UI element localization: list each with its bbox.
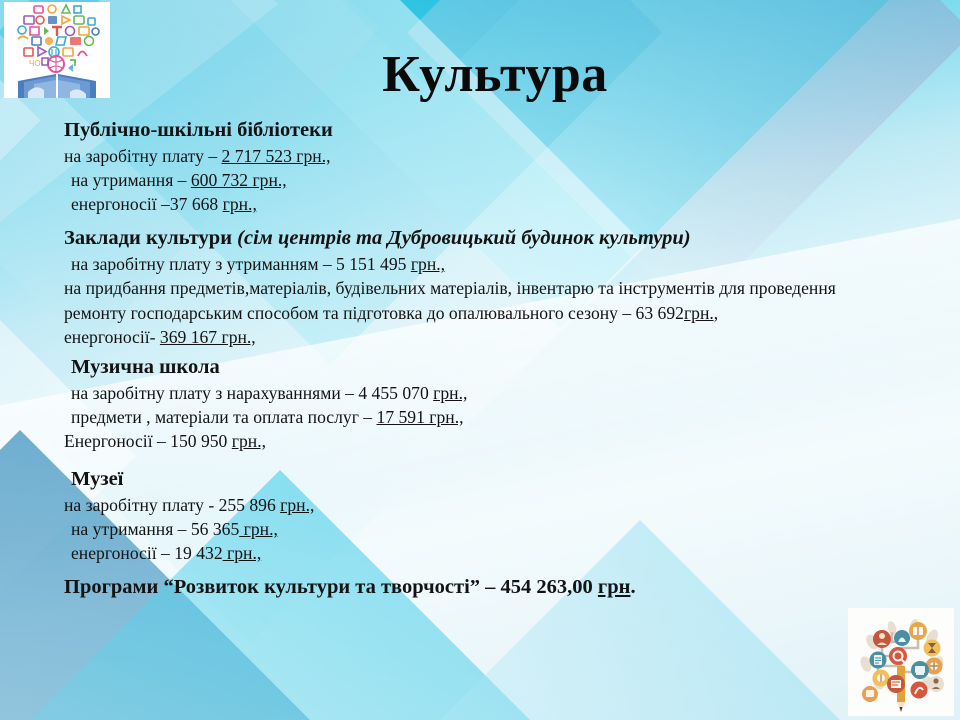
line-amount: 17 591 грн.,: [377, 407, 464, 427]
line-amount: грн.,: [280, 495, 314, 515]
line-prefix: енергоносії –37 668: [71, 194, 223, 214]
paragraph-text: на придбання предметів,матеріалів, будів…: [64, 278, 836, 322]
line-amount: 369 167 грн.,: [160, 327, 256, 347]
line-music-energy: Енергоносії – 150 950 грн.,: [64, 429, 894, 453]
section-heading-libraries: Публічно-шкільні бібліотеки: [64, 117, 894, 144]
line-prefix: на заробітну плату - 255 896: [64, 495, 280, 515]
page-title: Культура: [0, 48, 960, 103]
heading-text: Публічно-шкільні бібліотеки: [64, 119, 333, 141]
line-culture-salary: на заробітну плату з утриманням – 5 151 …: [64, 252, 894, 276]
line-libraries-salary: на заробітну плату – 2 717 523 грн.,: [64, 144, 894, 168]
spacer: [64, 216, 894, 225]
line-prefix: на заробітну плату –: [64, 146, 222, 166]
line-amount: грн.,: [223, 543, 262, 563]
line-prefix: на утримання –: [71, 170, 191, 190]
final-line-programs: Програми “Розвиток культури та творчості…: [64, 574, 894, 601]
line-prefix: на утримання – 56 365: [71, 519, 239, 539]
spacer: [64, 565, 894, 574]
heading-text: Заклади культури: [64, 227, 237, 249]
section-heading-museums: Музеї: [64, 466, 894, 493]
line-culture-energy: енергоносії- 369 167 грн.,: [64, 325, 894, 349]
final-text: Програми “Розвиток культури та творчості…: [64, 576, 598, 598]
line-amount: 2 717 523 грн.,: [222, 146, 331, 166]
line-amount: грн.,: [232, 431, 266, 451]
section-heading-music-school: Музична школа: [64, 354, 894, 381]
heading-text: Музична школа: [71, 356, 220, 378]
line-prefix: на заробітну плату з утриманням – 5 151 …: [71, 254, 411, 274]
heading-text: Музеї: [71, 468, 123, 490]
final-amount: грн: [598, 576, 631, 598]
line-libraries-energy: енергоносії –37 668 грн.,: [64, 192, 894, 216]
paragraph-amount: грн.,: [684, 303, 718, 323]
line-museums-maintenance: на утримання – 56 365 грн.,: [64, 517, 894, 541]
line-amount: грн.,: [239, 519, 278, 539]
knowledge-tree-pencil-logo: [848, 608, 954, 716]
line-prefix: енергоносії – 19 432: [71, 543, 223, 563]
line-amount: грн.,: [433, 383, 467, 403]
line-prefix: предмети , матеріали та оплата послуг –: [71, 407, 377, 427]
line-libraries-maintenance: на утримання – 600 732 грн.,: [64, 168, 894, 192]
spacer: [64, 453, 894, 466]
line-museums-energy: енергоносії – 19 432 грн.,: [64, 541, 894, 565]
line-amount: грн.,: [411, 254, 445, 274]
slide-body: Публічно-шкільні бібліотеки на заробітну…: [64, 117, 894, 601]
final-suffix: .: [630, 576, 635, 598]
line-prefix: енергоносії-: [64, 327, 160, 347]
line-amount: 600 732 грн.,: [191, 170, 287, 190]
line-music-salary: на заробітну плату з нарахуваннями – 4 4…: [64, 381, 894, 405]
paragraph-culture-purchases: на придбання предметів,матеріалів, будів…: [64, 276, 900, 324]
section-heading-culture-institutions: Заклади культури (сім центрів та Дуброви…: [64, 225, 894, 252]
heading-note: (сім центрів та Дубровицький будинок кул…: [237, 227, 690, 249]
line-prefix: Енергоносії – 150 950: [64, 431, 232, 451]
line-museums-salary: на заробітну плату - 255 896 грн.,: [64, 493, 894, 517]
background-shape-10: [0, 400, 19, 720]
line-music-materials: предмети , матеріали та оплата послуг – …: [64, 405, 894, 429]
line-amount: грн.,: [223, 194, 257, 214]
line-prefix: на заробітну плату з нарахуваннями – 4 4…: [71, 383, 433, 403]
slide-culture-budget: ЧО Культура Публічно-шкі: [0, 0, 960, 720]
